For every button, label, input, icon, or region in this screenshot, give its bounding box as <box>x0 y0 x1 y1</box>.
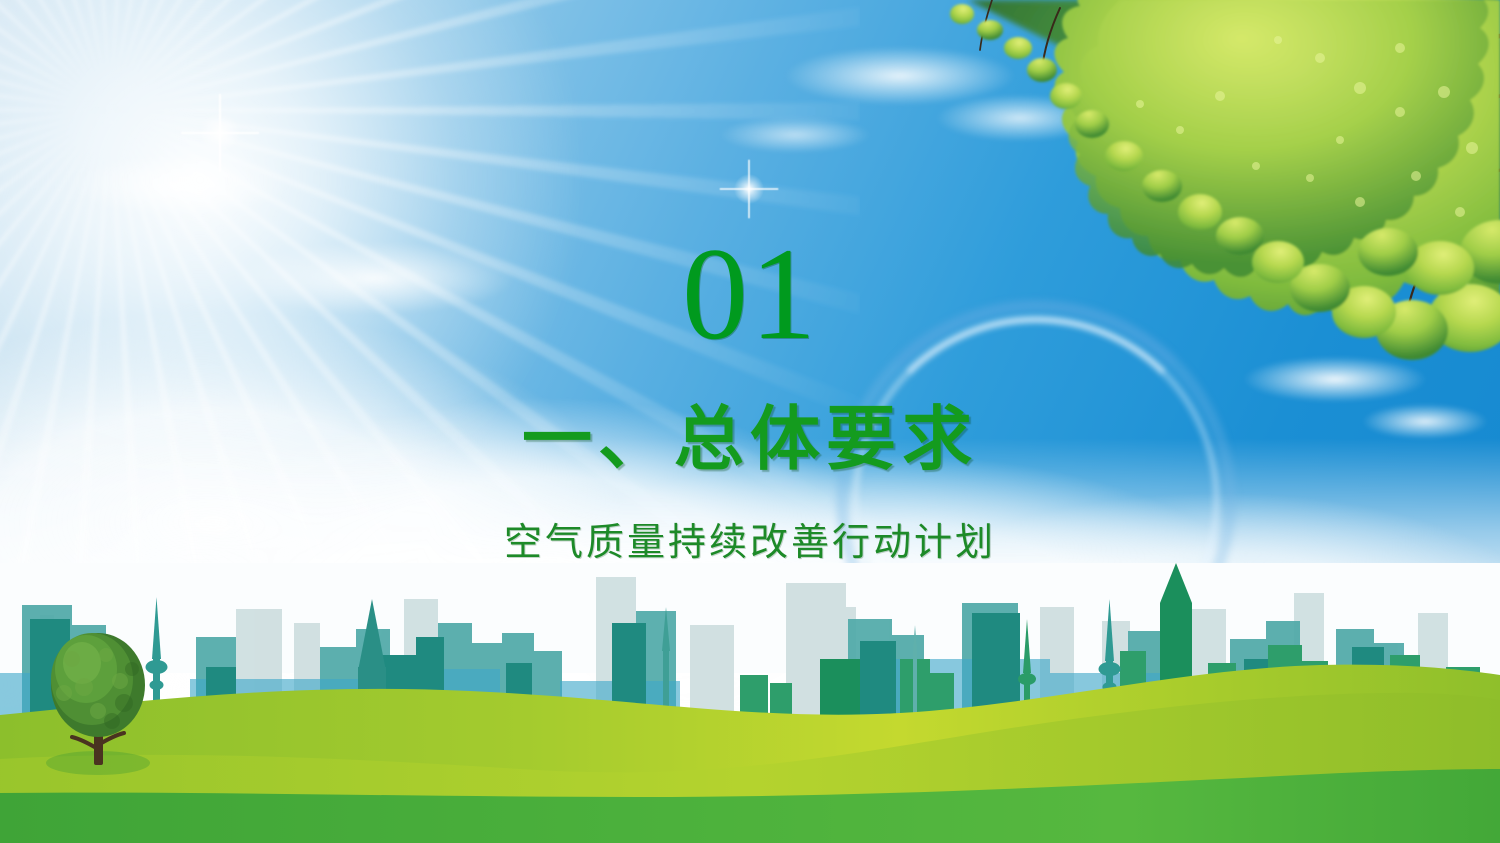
page-subtitle: 空气质量持续改善行动计划 <box>0 519 1500 567</box>
page-title: 一、总体要求 <box>0 398 1500 481</box>
chapter-number: 01 <box>0 228 1500 360</box>
title-text-block: 01 一、总体要求 空气质量持续改善行动计划 <box>0 0 1500 843</box>
slide-canvas: 01 一、总体要求 空气质量持续改善行动计划 <box>0 0 1500 843</box>
